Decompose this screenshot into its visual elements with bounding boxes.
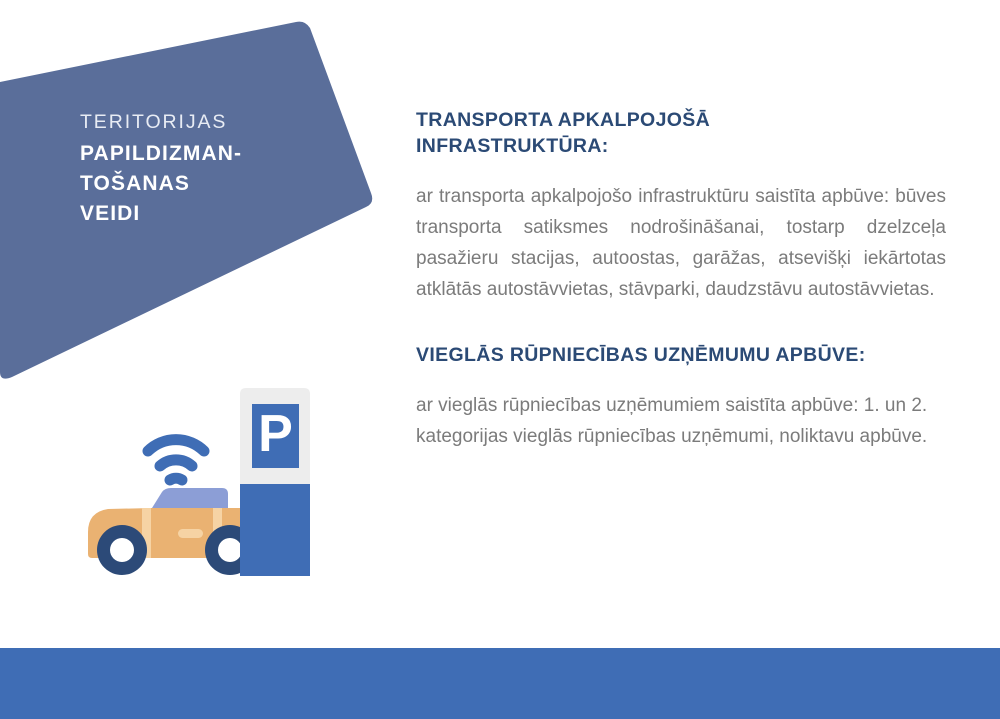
section-two-heading: VIEGLĀS RŪPNIECĪBAS UZŅĒMUMU APBŪVE: (416, 343, 946, 369)
banner-kicker: TERITORIJAS (80, 110, 340, 135)
section-two-paragraph: ar vieglās rūpniecības uzņēmumiem saistī… (416, 391, 946, 453)
banner-title-line-2: TOŠANAS (80, 169, 340, 199)
banner-title: PAPILDIZMAN- TOŠANAS VEIDI (80, 139, 340, 229)
section-one-heading-line-2: INFRASTRUKTŪRA: (416, 134, 946, 160)
smart-parking-illustration: P (82, 388, 330, 586)
section-light-industry: VIEGLĀS RŪPNIECĪBAS UZŅĒMUMU APBŪVE: ar … (416, 343, 946, 453)
banner-title-line-1: PAPILDIZMAN- (80, 139, 340, 169)
parking-meter-letter: P (258, 405, 293, 463)
banner-text-block: TERITORIJAS PAPILDIZMAN- TOŠANAS VEIDI (80, 110, 340, 229)
section-two-heading-line-1: VIEGLĀS RŪPNIECĪBAS UZŅĒMUMU APBŪVE: (416, 344, 866, 366)
section-one-paragraph: ar transporta apkalpojošo infrastruktūru… (416, 182, 946, 306)
bottom-bar (0, 648, 1000, 719)
section-transport-infrastructure: TRANSPORTA APKALPOJOŠĀ INFRASTRUKTŪRA: a… (416, 108, 946, 306)
wifi-signal-icon (148, 440, 204, 480)
content-column: TRANSPORTA APKALPOJOŠĀ INFRASTRUKTŪRA: a… (416, 108, 946, 453)
section-one-heading-line-1: TRANSPORTA APKALPOJOŠĀ (416, 109, 710, 131)
slide-root: TERITORIJAS PAPILDIZMAN- TOŠANAS VEIDI T… (0, 0, 1000, 719)
car-icon (88, 484, 310, 576)
banner-title-line-3: VEIDI (80, 199, 340, 229)
section-one-heading: TRANSPORTA APKALPOJOŠĀ INFRASTRUKTŪRA: (416, 108, 946, 160)
